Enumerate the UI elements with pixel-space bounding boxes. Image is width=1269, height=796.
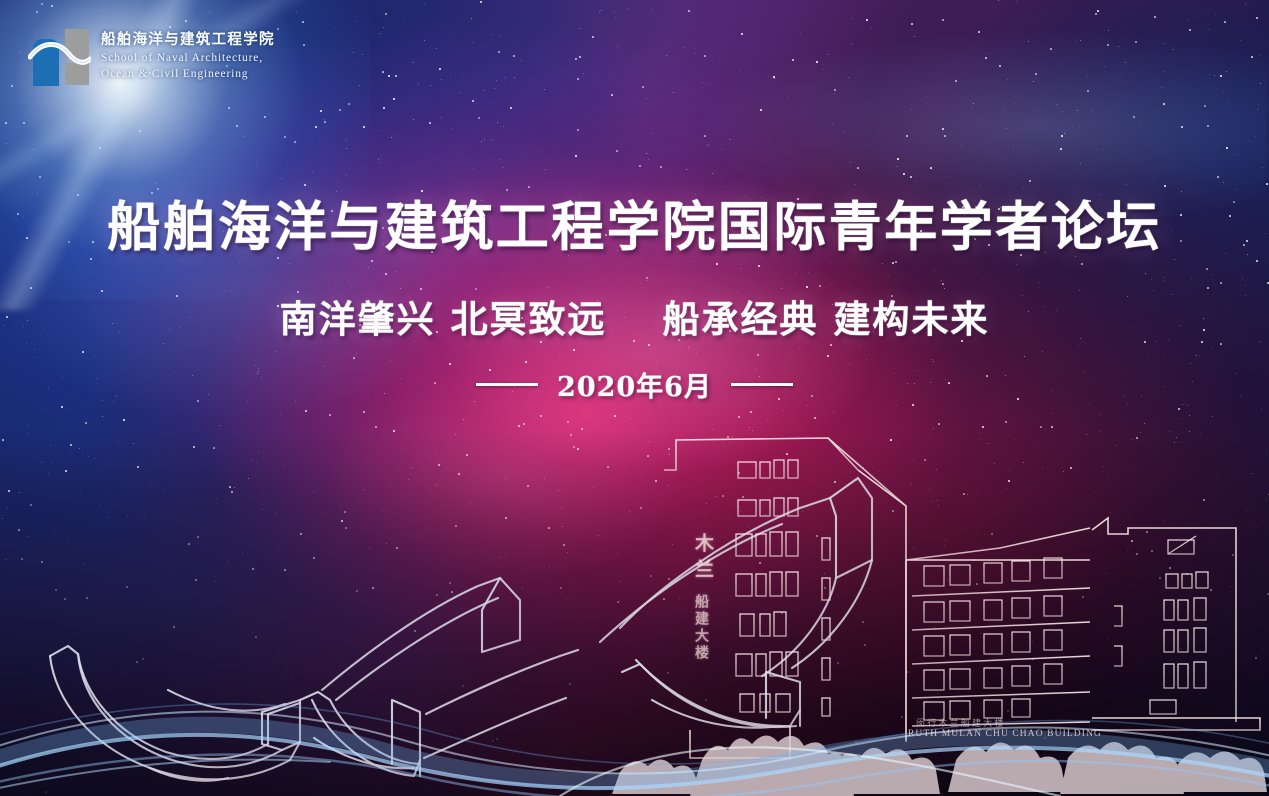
logo-wave-icon [28, 27, 91, 87]
subtitle-right: 船承经典 建构未来 [663, 297, 990, 341]
building-sign-large: 木兰 [690, 533, 717, 585]
logo-chinese-name: 船舶海洋与建筑工程学院 [101, 33, 275, 48]
building-name-cn: 闵行木兰船建大楼 [916, 716, 1006, 729]
logo-mark-icon [28, 27, 91, 87]
school-logo: 船舶海洋与建筑工程学院 School of Naval Architecture… [28, 27, 275, 87]
subtitle-left: 南洋肇兴 北冥致远 [280, 297, 607, 341]
logo-english-name-line2: Ocean & Civil Engineering [101, 67, 275, 81]
dash-right-decoration [731, 383, 793, 386]
headline-block: 船舶海洋与建筑工程学院国际青年学者论坛 南洋肇兴 北冥致远船承经典 建构未来 2… [0, 185, 1269, 404]
building-sign-small: 船建大楼 [691, 594, 711, 662]
poster-subtitle: 南洋肇兴 北冥致远船承经典 建构未来 [0, 289, 1269, 343]
poster-canvas: 木兰 船建大楼 闵行木兰船建大楼 RUTH MULAN CHU CHAO BUI… [0, 0, 1269, 796]
dash-left-decoration [476, 383, 538, 386]
poster-title: 船舶海洋与建筑工程学院国际青年学者论坛 [0, 185, 1269, 261]
date-line: 2020年6月 [0, 365, 1269, 404]
logo-text-block: 船舶海洋与建筑工程学院 School of Naval Architecture… [101, 33, 275, 80]
logo-english-name-line1: School of Naval Architecture, [101, 51, 275, 65]
building-name-en: RUTH MULAN CHU CHAO BUILDING [908, 729, 1102, 739]
poster-date: 2020年6月 [557, 365, 712, 404]
